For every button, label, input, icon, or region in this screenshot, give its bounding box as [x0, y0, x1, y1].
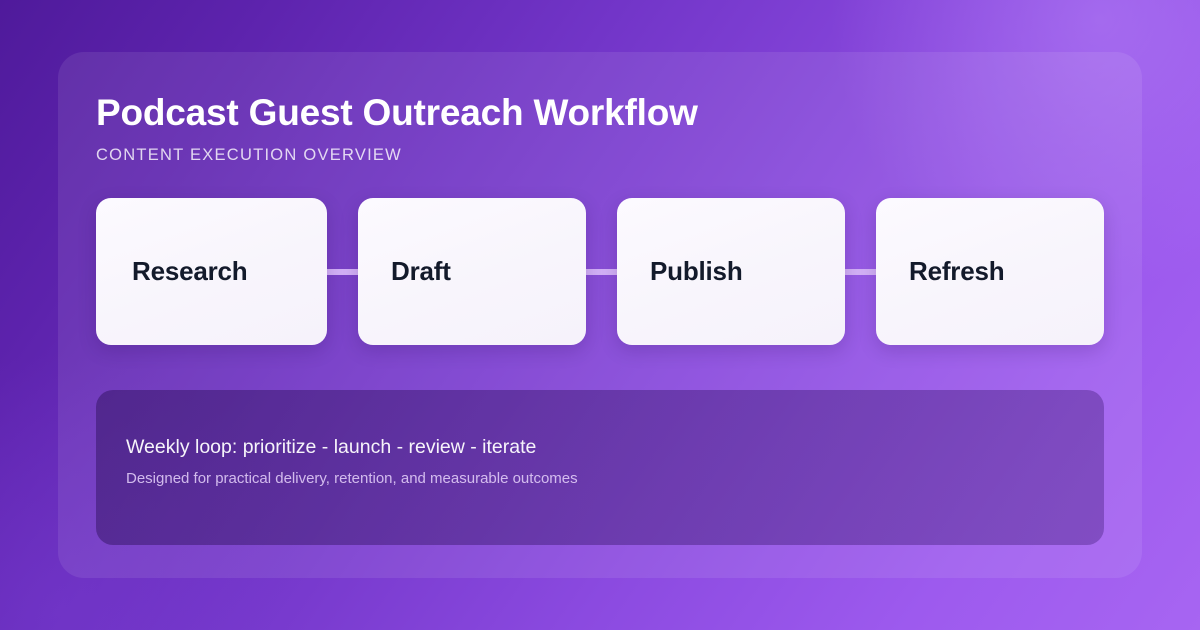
page-subtitle: CONTENT EXECUTION OVERVIEW	[96, 144, 1104, 166]
step-card-draft[interactable]: Draft	[358, 198, 586, 345]
slide-canvas: Podcast Guest Outreach Workflow CONTENT …	[0, 0, 1200, 630]
summary-note-description: Designed for practical delivery, retenti…	[126, 468, 1104, 489]
step-connector-3	[845, 269, 876, 275]
step-connector-2	[586, 269, 617, 275]
step-label-refresh: Refresh	[909, 256, 1004, 287]
summary-note-panel: Weekly loop: prioritize - launch - revie…	[96, 390, 1104, 545]
step-card-research[interactable]: Research	[96, 198, 327, 345]
step-connector-1	[327, 269, 358, 275]
step-card-publish[interactable]: Publish	[617, 198, 845, 345]
step-label-draft: Draft	[391, 256, 451, 287]
step-card-refresh[interactable]: Refresh	[876, 198, 1104, 345]
workflow-step-row: Research Draft Publish Refresh	[96, 198, 1104, 345]
page-title: Podcast Guest Outreach Workflow	[96, 90, 1104, 136]
step-label-publish: Publish	[650, 256, 743, 287]
summary-note-headline: Weekly loop: prioritize - launch - revie…	[126, 434, 1104, 460]
content-panel: Podcast Guest Outreach Workflow CONTENT …	[58, 52, 1142, 578]
step-label-research: Research	[132, 256, 247, 287]
